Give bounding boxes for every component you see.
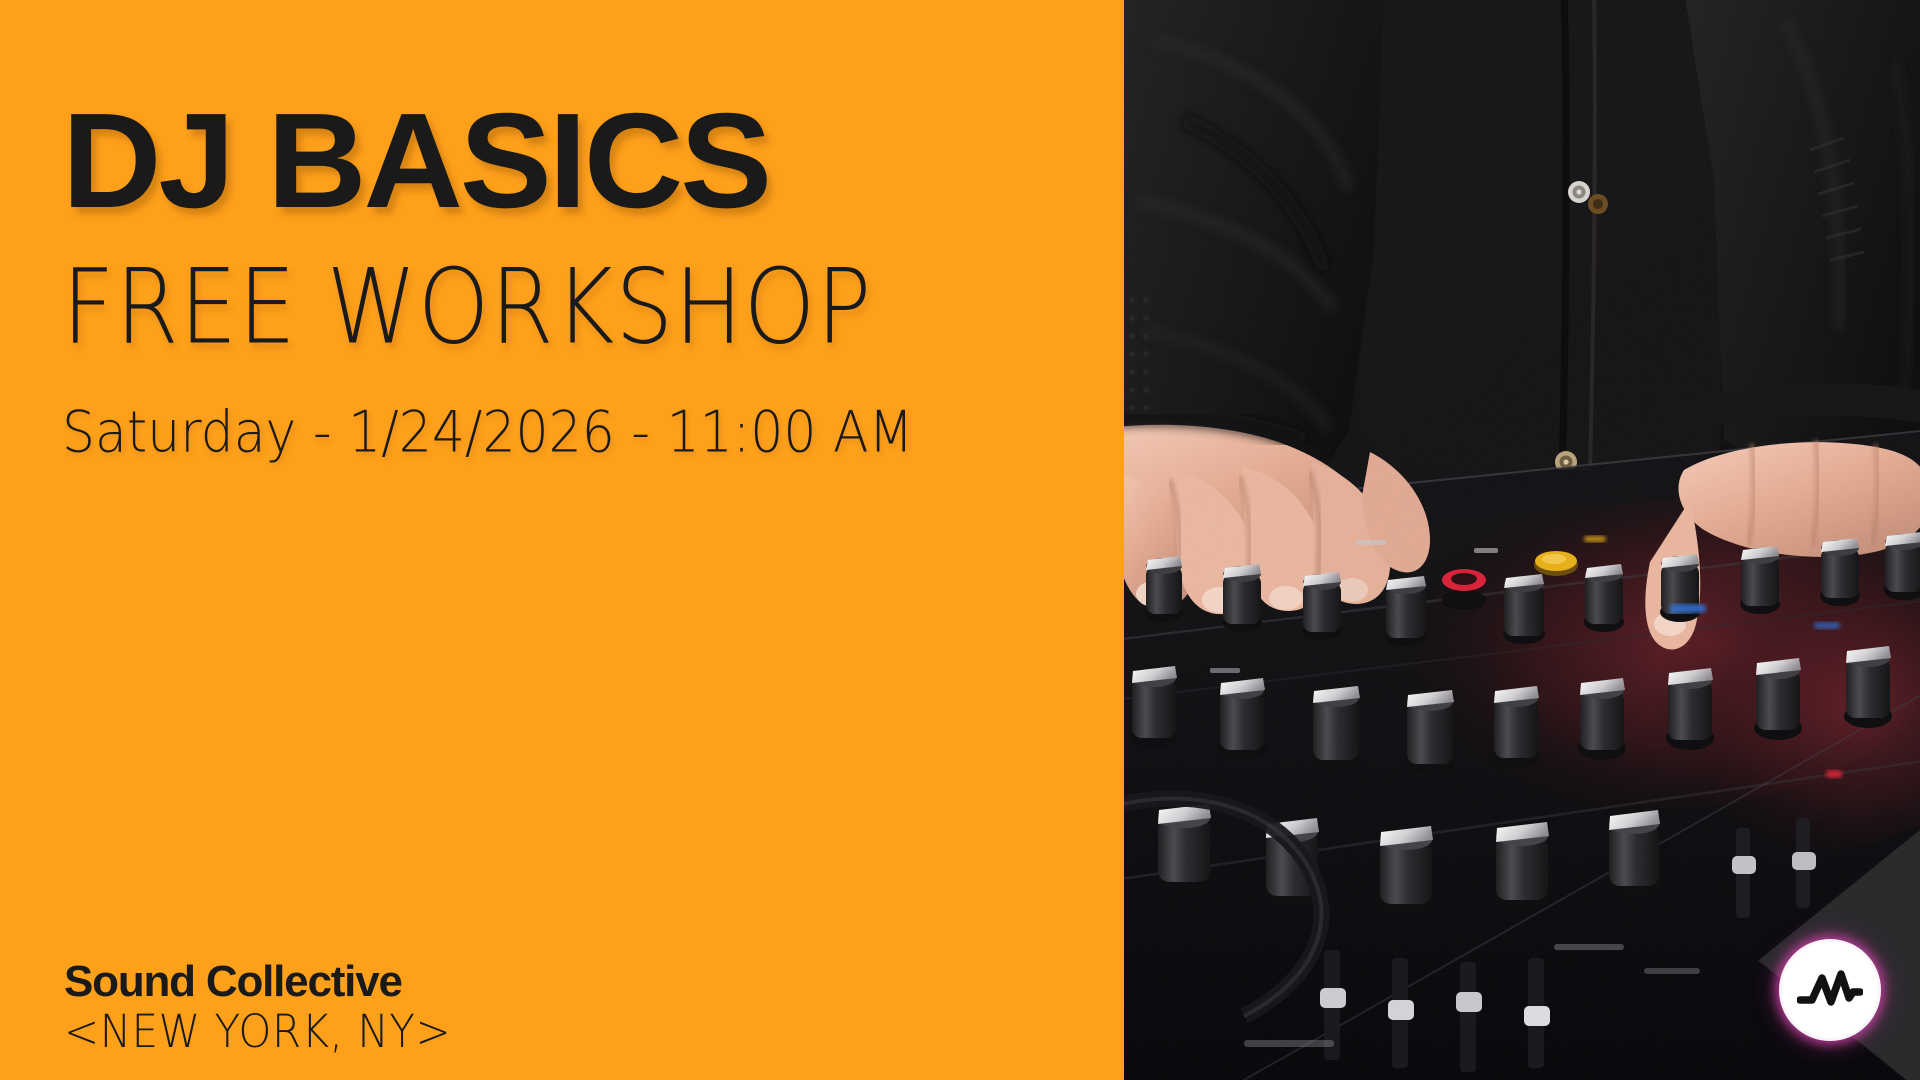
event-poster: DJ BASICS FREE WORKSHOP Saturday - 1/24/…: [0, 0, 1920, 1080]
dj-photo-panel: [1124, 0, 1920, 1080]
page-title: DJ BASICS: [62, 96, 1082, 226]
headline-block: DJ BASICS FREE WORKSHOP Saturday - 1/24/…: [62, 96, 1062, 459]
brand-block: Sound Collective <NEW YORK, NY>: [64, 960, 451, 1052]
event-datetime: Saturday - 1/24/2026 - 11:00 AM: [62, 402, 1062, 465]
brand-location: <NEW YORK, NY>: [64, 1008, 451, 1056]
brand-name: Sound Collective: [64, 960, 451, 1004]
dj-photo-image: [1124, 0, 1920, 1080]
waveform-logo-icon: [1782, 942, 1878, 1038]
left-orange-panel: DJ BASICS FREE WORKSHOP Saturday - 1/24/…: [0, 0, 1124, 1080]
waveform-logo-mark: [1797, 964, 1863, 1016]
event-subtitle: FREE WORKSHOP: [62, 254, 1052, 362]
